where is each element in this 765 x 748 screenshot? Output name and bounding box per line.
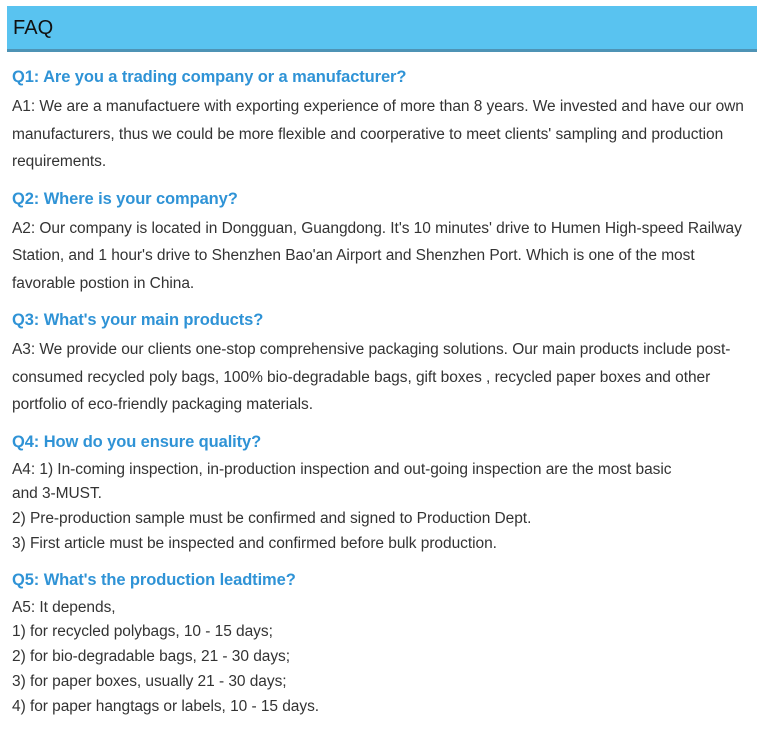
- answer-line: 3) First article must be inspected and c…: [12, 532, 754, 557]
- faq-answer-q2: A2: Our company is located in Dongguan, …: [12, 215, 754, 298]
- answer-line: 2) Pre-production sample must be confirm…: [12, 507, 754, 532]
- answer-line: A4: 1) In-coming inspection, in-producti…: [12, 458, 754, 483]
- faq-answer-q3: A3: We provide our clients one-stop comp…: [12, 336, 754, 419]
- answer-line: 4) for paper hangtags or labels, 10 - 15…: [12, 695, 754, 720]
- faq-item-q3: Q3: What's your main products? A3: We pr…: [12, 307, 754, 419]
- faq-question-q4: Q4: How do you ensure quality?: [12, 429, 754, 456]
- faq-item-q1: Q1: Are you a trading company or a manuf…: [12, 64, 754, 176]
- answer-line: 3) for paper boxes, usually 21 - 30 days…: [12, 670, 754, 695]
- faq-page: FAQ Q1: Are you a trading company or a m…: [0, 0, 765, 748]
- faq-question-q3: Q3: What's your main products?: [12, 307, 754, 334]
- faq-question-q5: Q5: What's the production leadtime?: [12, 567, 754, 594]
- answer-line: 2) for bio-degradable bags, 21 - 30 days…: [12, 645, 754, 670]
- faq-list: Q1: Are you a trading company or a manuf…: [12, 64, 754, 720]
- faq-item-q2: Q2: Where is your company? A2: Our compa…: [12, 186, 754, 298]
- faq-answer-q1: A1: We are a manufactuere with exporting…: [12, 93, 754, 176]
- answer-line: A5: It depends,: [12, 596, 754, 621]
- faq-answer-q5: A5: It depends,1) for recycled polybags,…: [12, 596, 754, 720]
- answer-line: 1) for recycled polybags, 10 - 15 days;: [12, 620, 754, 645]
- faq-question-q2: Q2: Where is your company?: [12, 186, 754, 213]
- faq-answer-q4: A4: 1) In-coming inspection, in-producti…: [12, 458, 754, 557]
- answer-line: and 3-MUST.: [12, 482, 754, 507]
- faq-item-q4: Q4: How do you ensure quality? A4: 1) In…: [12, 429, 754, 557]
- faq-header-bar: FAQ: [7, 6, 757, 52]
- faq-question-q1: Q1: Are you a trading company or a manuf…: [12, 64, 754, 91]
- faq-item-q5: Q5: What's the production leadtime? A5: …: [12, 567, 754, 720]
- page-title: FAQ: [7, 18, 53, 38]
